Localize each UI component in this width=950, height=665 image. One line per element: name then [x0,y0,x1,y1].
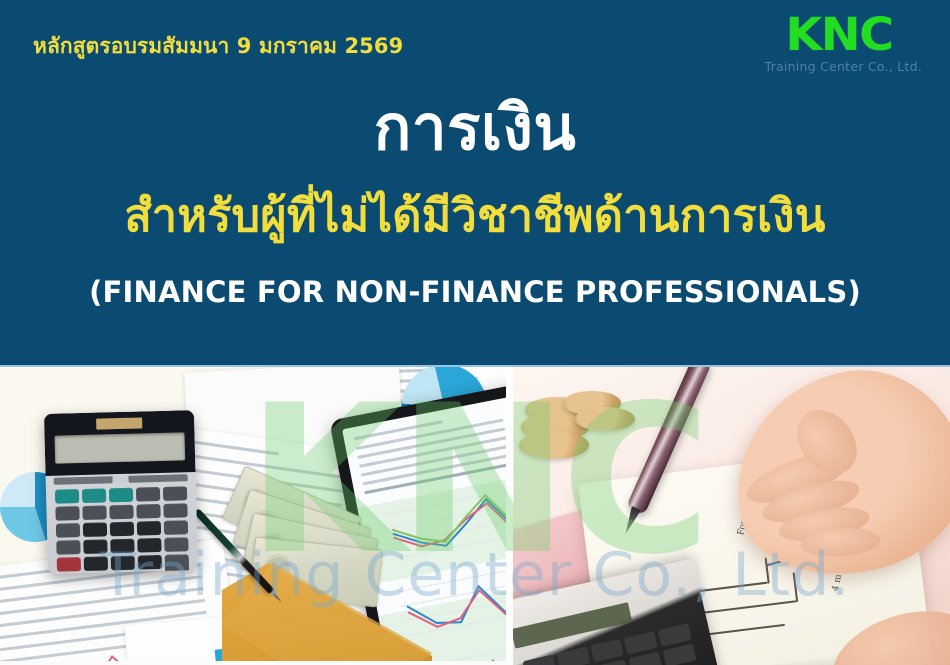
poster-header: หลักสูตรอบรมสัมมนา 9 มกราคม 2569 KNC Tra… [0,0,950,367]
solar-panel [96,417,142,429]
page-title: การเงิน [0,95,950,160]
calculator-keypad [55,486,190,574]
knc-logo-subtitle: Training Center Co., Ltd. [765,59,922,74]
page-subtitle-english: (FINANCE FOR NON-FINANCE PROFESSIONALS) [0,275,950,309]
coin-stack [519,391,645,479]
knc-logo: KNC Training Center Co., Ltd. [765,14,922,74]
calculator-top [44,410,196,476]
calculator-display [55,432,186,463]
photo-strip: Fox Fox 4 m 20 [0,367,950,665]
page-subtitle-thai: สำหรับผู้ที่ไม่ได้มีวิชาชีพด้านการเงิน [0,192,950,239]
knc-logo-mark: KNC [755,14,922,57]
course-date-line: หลักสูตรอบรมสัมมนา 9 มกราคม 2569 [33,30,403,63]
photo-divider [506,367,513,665]
photo-right-hand-writing: Fox Fox 4 m 20 [513,367,950,665]
bottom-white-strip [0,661,510,665]
calculator-switches [54,474,188,485]
calculator [44,410,198,574]
seminar-poster: หลักสูตรอบรมสัมมนา 9 มกราคม 2569 KNC Tra… [0,0,950,665]
photo-left-finance-desk [0,367,506,665]
